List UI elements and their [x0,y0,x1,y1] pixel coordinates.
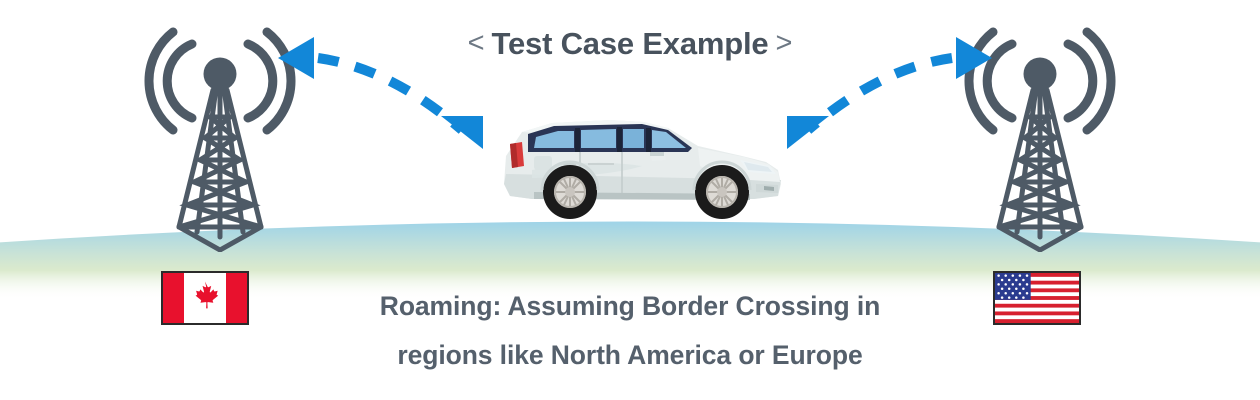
canada-flag-frame [161,271,249,325]
caption: Roaming: Assuming Border Crossing in reg… [300,282,960,380]
caption-line-1: Roaming: Assuming Border Crossing in [300,282,960,331]
front-wheel [695,165,749,219]
caption-line-2: regions like North America or Europe [300,331,960,380]
usa-flag-frame [993,271,1081,325]
suv-car-icon [492,104,792,224]
title-open-bracket: < [468,27,485,59]
usa-flag-icon [993,271,1081,325]
canada-flag-graphic [163,273,247,323]
page-title: <Test Case Example> [0,26,1260,62]
canada-flag-icon [161,271,249,325]
title-label: Test Case Example [492,26,769,61]
usa-flag-graphic [995,273,1079,323]
rear-wheel [543,165,597,219]
illustration-canvas: <Test Case Example> Roaming: Assuming Bo… [0,0,1260,400]
title-close-bracket: > [775,27,792,59]
